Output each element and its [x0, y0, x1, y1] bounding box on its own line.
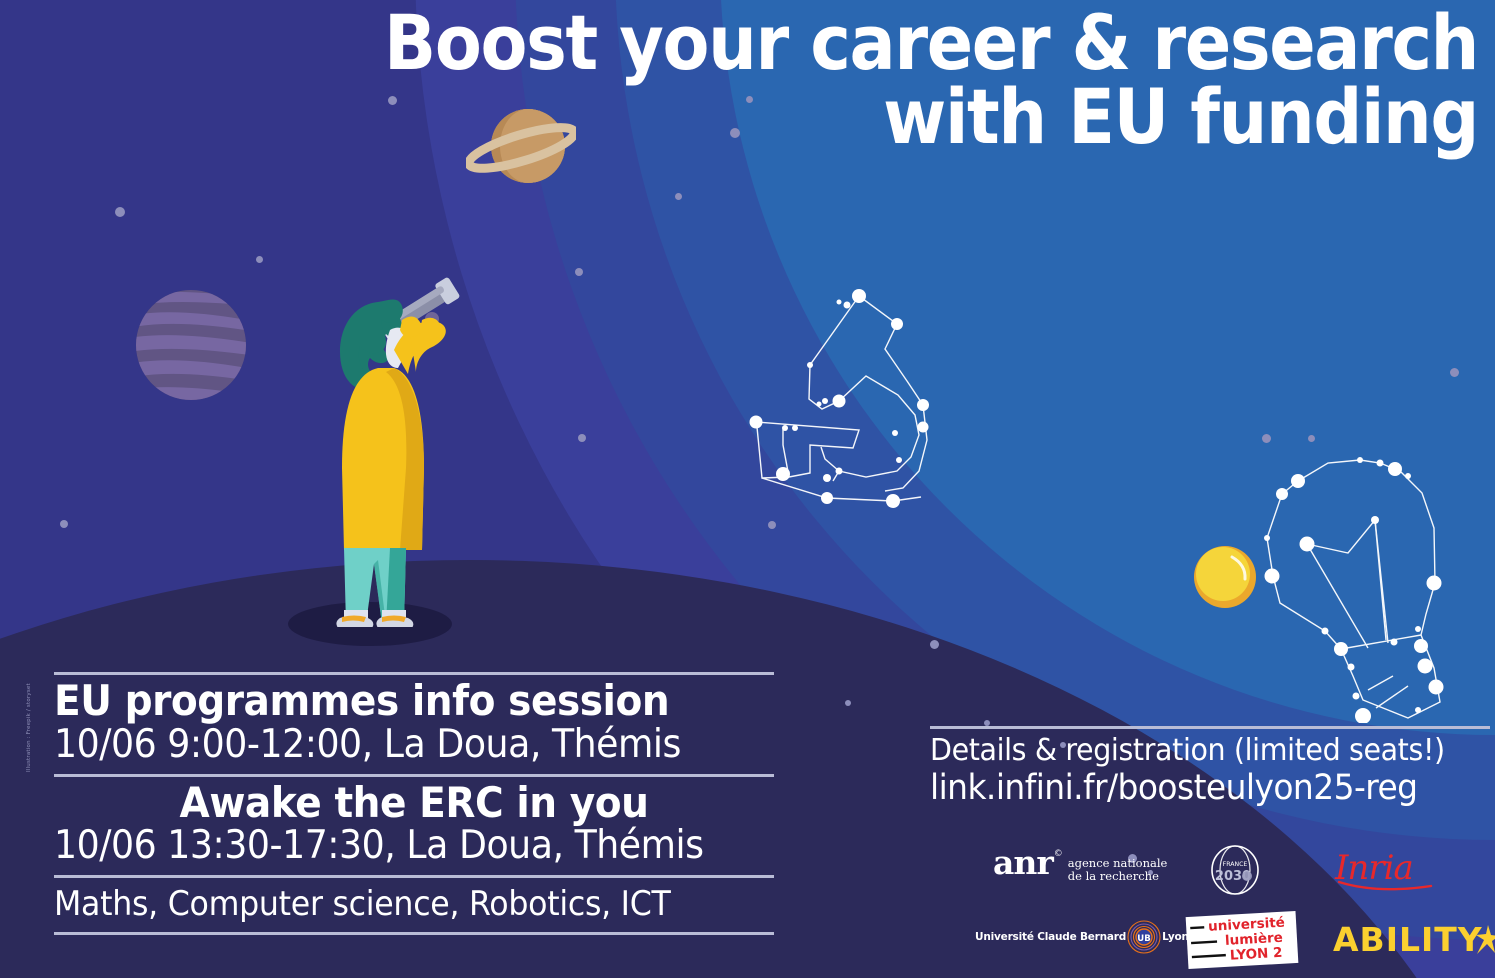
ucbl-left-text: Université Claude Bernard — [975, 931, 1126, 943]
divider-rule — [930, 726, 1490, 729]
logo-ability: ABILITY — [1333, 920, 1495, 959]
svg-text:UB: UB — [1137, 934, 1150, 944]
logo-anr: anr © agence nationale de la recherche — [993, 848, 1167, 883]
star — [256, 256, 263, 263]
registration-block: Details & registration (limited seats!) … — [930, 726, 1490, 808]
star — [768, 521, 776, 529]
france2030-line-1: FRANCE — [1223, 861, 1248, 868]
headline-line-2: with EU funding — [148, 80, 1478, 154]
star — [930, 640, 939, 649]
purple-striped-planet — [133, 287, 249, 403]
star — [675, 193, 682, 200]
anr-wordmark: anr — [993, 848, 1053, 878]
anr-subtitle-line-2: de la recherche — [1068, 870, 1168, 883]
lyon2-line-3: LYON 2 — [1229, 945, 1282, 964]
ability-wordmark: ABILITY — [1333, 920, 1483, 959]
sun-planet — [1192, 543, 1258, 609]
star — [845, 700, 851, 706]
logo-lyon2: université lumière LYON 2 — [1186, 911, 1299, 969]
logo-inria: Inria — [1335, 848, 1413, 888]
logo-ucbl-lyon1: Université Claude Bernard UB Lyon 1 — [975, 920, 1199, 954]
astronomer-with-telescope — [282, 272, 497, 627]
event-topics: Maths, Computer science, Robotics, ICT — [54, 886, 724, 923]
event-1-when: 10/06 9:00-12:00, La Doua, Thémis — [54, 724, 724, 766]
registration-label: Details & registration (limited seats!) — [930, 734, 1462, 769]
lightbulb-constellation — [1258, 438, 1495, 723]
divider-rule — [54, 875, 774, 878]
event-1-title: EU programmes info session — [54, 679, 724, 724]
event-2-title: Awake the ERC in you — [79, 781, 749, 826]
ability-star-icon — [1474, 923, 1495, 957]
anr-subtitle: agence nationale de la recherche — [1068, 857, 1168, 883]
registration-url[interactable]: link.infini.fr/boosteulyon25-reg — [930, 769, 1456, 808]
poster-canvas: Boost your career & research with EU fun… — [0, 0, 1495, 978]
logo-france-2030: FRANCE 2030 — [1207, 844, 1263, 896]
events-info-block: EU programmes info session 10/06 9:00-12… — [54, 672, 774, 935]
inria-underline — [1337, 878, 1433, 892]
illustration-credit: Illustration : Freepik / storyset — [26, 676, 32, 772]
star — [575, 268, 583, 276]
headline-line-1: Boost your career & research — [148, 6, 1478, 80]
star — [578, 434, 586, 442]
logo-strip: anr © agence nationale de la recherche F… — [975, 842, 1490, 972]
microscope-constellation — [735, 285, 970, 515]
star — [1450, 368, 1459, 377]
event-2-when: 10/06 13:30-17:30, La Doua, Thémis — [54, 825, 724, 867]
star — [60, 520, 68, 528]
poster-headline: Boost your career & research with EU fun… — [148, 6, 1478, 155]
divider-rule — [54, 774, 774, 777]
divider-rule — [54, 672, 774, 675]
star — [115, 207, 125, 217]
ucbl-monogram-icon: UB — [1127, 920, 1161, 954]
anr-registered-icon: © — [1054, 849, 1063, 859]
divider-rule — [54, 932, 774, 935]
